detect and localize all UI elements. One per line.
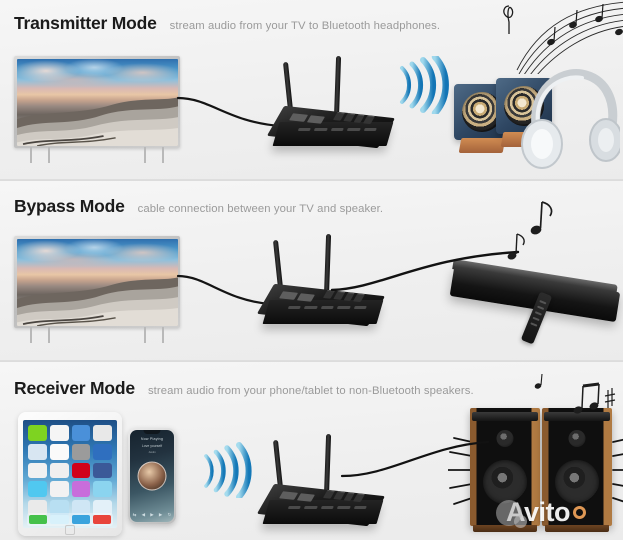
watermark-blob-small	[514, 515, 527, 528]
sound-burst-right-icon	[611, 436, 623, 508]
smartphone-device: Now Playing Love yourself Justin ⇆ ◀ ▶ ▶…	[128, 428, 176, 524]
bluetooth-adapter-transmitter	[272, 62, 394, 158]
tablet-body	[18, 412, 122, 536]
app-icon[interactable]	[50, 481, 69, 497]
heading-transmitter: Transmitter Mode stream audio from your …	[14, 13, 440, 34]
avito-watermark: Avito	[506, 497, 586, 528]
dock-icon-safari[interactable]	[72, 515, 90, 524]
repeat-icon[interactable]: ↻	[168, 512, 172, 518]
bluetooth-waves-icon-receiver	[198, 442, 254, 498]
phone-player-controls: ⇆ ◀ ▶ ▶ ↻	[130, 512, 174, 518]
track-title: Love yourself	[130, 444, 174, 448]
app-icon[interactable]	[50, 425, 69, 441]
app-icon[interactable]	[28, 444, 47, 460]
tv-bezel	[14, 56, 180, 148]
speaker-top-panel	[472, 412, 538, 421]
tv-landscape	[17, 92, 178, 146]
bluetooth-adapter-receiver	[262, 440, 384, 536]
tv-sky	[17, 239, 178, 274]
phone-body: Now Playing Love yourself Justin ⇆ ◀ ▶ ▶…	[128, 428, 176, 524]
television-transmitter	[14, 56, 180, 166]
adapter-front-face	[263, 300, 384, 324]
adapter-front-face	[263, 500, 384, 524]
next-icon[interactable]: ▶	[159, 512, 162, 518]
soundbar	[452, 248, 623, 346]
app-icon[interactable]	[93, 444, 112, 460]
tv-landscape	[17, 272, 178, 326]
app-icon[interactable]	[93, 425, 112, 441]
infographic-root: Transmitter Mode stream audio from your …	[0, 0, 623, 540]
dock-icon-mail[interactable]	[50, 515, 68, 524]
adapter-ports	[287, 306, 367, 311]
mode-subtitle: cable connection between your TV and spe…	[138, 203, 383, 215]
mode-title: Receiver Mode	[14, 378, 135, 399]
audio-output-group-transmitter	[438, 50, 623, 175]
heading-bypass: Bypass Mode cable connection between you…	[14, 196, 383, 217]
tv-screen	[17, 59, 178, 146]
app-icon[interactable]	[72, 481, 91, 497]
now-playing-label: Now Playing	[130, 437, 174, 441]
previous-icon[interactable]: ◀	[142, 512, 145, 518]
tv-bezel	[14, 236, 180, 328]
app-icon[interactable]	[50, 444, 69, 460]
speaker-tweeter	[497, 430, 514, 447]
speaker-wooden-stand	[459, 138, 506, 153]
app-icon[interactable]	[72, 444, 91, 460]
adapter-ports	[297, 128, 377, 133]
mode-title: Bypass Mode	[14, 196, 125, 217]
app-icon[interactable]	[93, 481, 112, 497]
television-bypass	[14, 236, 180, 346]
bluetooth-headphones-icon	[520, 64, 620, 172]
shuffle-icon[interactable]: ⇆	[133, 512, 137, 518]
mode-subtitle: stream audio from your TV to Bluetooth h…	[170, 20, 440, 32]
phone-notch	[144, 430, 161, 434]
tv-screen	[17, 239, 178, 326]
watermark-dot-icon	[573, 506, 586, 519]
album-artwork	[138, 462, 167, 491]
tv-sky	[17, 59, 178, 94]
adapter-front-face	[273, 122, 394, 146]
tablet-home-button[interactable]	[65, 525, 75, 535]
tablet-screen	[23, 420, 117, 528]
phone-screen: Now Playing Love yourself Justin ⇆ ◀ ▶ ▶…	[130, 430, 174, 522]
tablet-device	[18, 412, 122, 536]
app-icon[interactable]	[28, 463, 47, 479]
mode-subtitle: stream audio from your phone/tablet to n…	[148, 385, 474, 397]
adapter-ports	[287, 506, 367, 511]
bluetooth-adapter-bypass	[262, 240, 384, 336]
tv-stand-right	[144, 327, 164, 343]
dock-icon-phone[interactable]	[29, 515, 47, 524]
antenna-right	[334, 56, 341, 120]
tv-stand-left	[30, 327, 50, 343]
mode-title: Transmitter Mode	[14, 13, 157, 34]
heading-receiver: Receiver Mode stream audio from your pho…	[14, 378, 474, 399]
tv-stand-left	[30, 147, 50, 163]
app-icon[interactable]	[50, 463, 69, 479]
speaker-tweeter	[569, 430, 586, 447]
app-icon[interactable]	[28, 425, 47, 441]
speaker-top-panel	[544, 412, 610, 421]
app-icon[interactable]	[28, 481, 47, 497]
play-icon[interactable]: ▶	[150, 512, 153, 518]
app-icon[interactable]	[72, 425, 91, 441]
app-icon[interactable]	[93, 463, 112, 479]
app-icon[interactable]	[72, 463, 91, 479]
bluetooth-waves-icon	[392, 56, 450, 114]
track-artist: Justin	[130, 450, 174, 454]
tv-stand-right	[144, 147, 164, 163]
dock-icon-music[interactable]	[93, 515, 111, 524]
antenna-right	[324, 434, 331, 498]
panel-transmitter-mode: Transmitter Mode stream audio from your …	[0, 0, 623, 181]
antenna-right	[324, 234, 331, 298]
